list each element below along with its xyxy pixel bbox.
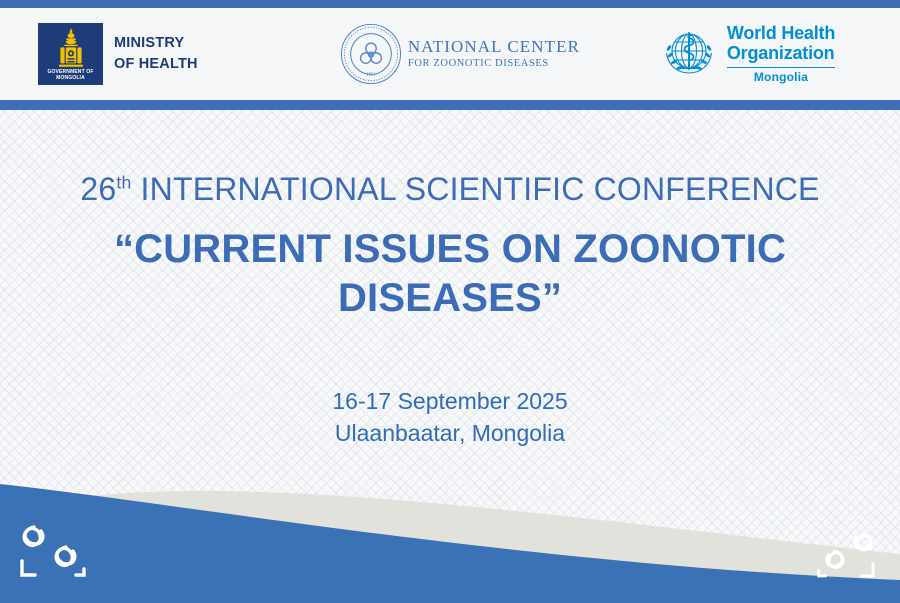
- national-center-name-line2: FOR ZOONOTIC DISEASES: [408, 57, 580, 70]
- crest-caption-line1: GOVERNMENT OF: [47, 69, 93, 75]
- title-content-block: 26th INTERNATIONAL SCIENTIFIC CONFERENCE…: [0, 110, 900, 510]
- national-center-wordmark: NATIONAL CENTER FOR ZOONOTIC DISEASES: [408, 38, 580, 71]
- edition-suffix: th: [116, 172, 131, 192]
- who-logo: World Health Organization Mongolia: [610, 8, 900, 100]
- who-divider-rule: [727, 67, 835, 69]
- conference-location: Ulaanbaatar, Mongolia: [0, 417, 900, 450]
- edition-rest: INTERNATIONAL SCIENTIFIC CONFERENCE: [131, 171, 819, 207]
- ulzii-knot-ornament-icon: [810, 525, 880, 583]
- crest-caption-line2: MONGOLIA: [56, 75, 85, 81]
- who-logo-inner: World Health Organization Mongolia: [657, 22, 835, 86]
- ministry-label-line2: OF HEALTH: [114, 54, 198, 75]
- logo-header-band: GOVERNMENT OF MONGOLIA MINISTRY OF HEALT…: [0, 8, 900, 100]
- national-center-name-line1: NATIONAL CENTER: [408, 38, 580, 57]
- conference-theme-title: “CURRENT ISSUES ON ZOONOTIC DISEASES”: [0, 225, 900, 323]
- who-asclepius-globe-laurel-icon: [657, 22, 721, 86]
- conference-title-slide: GOVERNMENT OF MONGOLIA MINISTRY OF HEALT…: [0, 0, 900, 603]
- edition-number: 26: [80, 171, 116, 207]
- conference-dates: 16-17 September 2025: [0, 385, 900, 418]
- national-center-logo-inner: 1951 NATIONAL CENTER FOR ZOONOTIC DISEAS…: [340, 23, 580, 85]
- ministry-label-line1: MINISTRY: [114, 33, 198, 54]
- who-name-line2: Organization: [727, 44, 835, 64]
- ministry-of-health-logo: GOVERNMENT OF MONGOLIA MINISTRY OF HEALT…: [0, 8, 310, 100]
- who-wordmark: World Health Organization Mongolia: [727, 24, 835, 84]
- ulzii-knot-ornament-icon: [14, 519, 94, 581]
- crest-caption: GOVERNMENT OF MONGOLIA: [38, 69, 103, 83]
- national-center-logo: 1951 NATIONAL CENTER FOR ZOONOTIC DISEAS…: [310, 8, 610, 100]
- header-divider-bar: [0, 100, 900, 110]
- who-country-label: Mongolia: [727, 70, 835, 84]
- conference-meta: 16-17 September 2025 Ulaanbaatar, Mongol…: [0, 385, 900, 450]
- conference-edition-line: 26th INTERNATIONAL SCIENTIFIC CONFERENCE: [0, 172, 900, 207]
- mongolian-soyombo-crest-icon: GOVERNMENT OF MONGOLIA: [38, 23, 103, 85]
- who-name-line1: World Health: [727, 24, 835, 44]
- seal-year-text: 1951: [366, 73, 376, 78]
- top-accent-bar: [0, 0, 900, 8]
- ministry-of-health-label: MINISTRY OF HEALTH: [114, 33, 198, 74]
- zoonotic-biohazard-seal-icon: 1951: [340, 23, 402, 85]
